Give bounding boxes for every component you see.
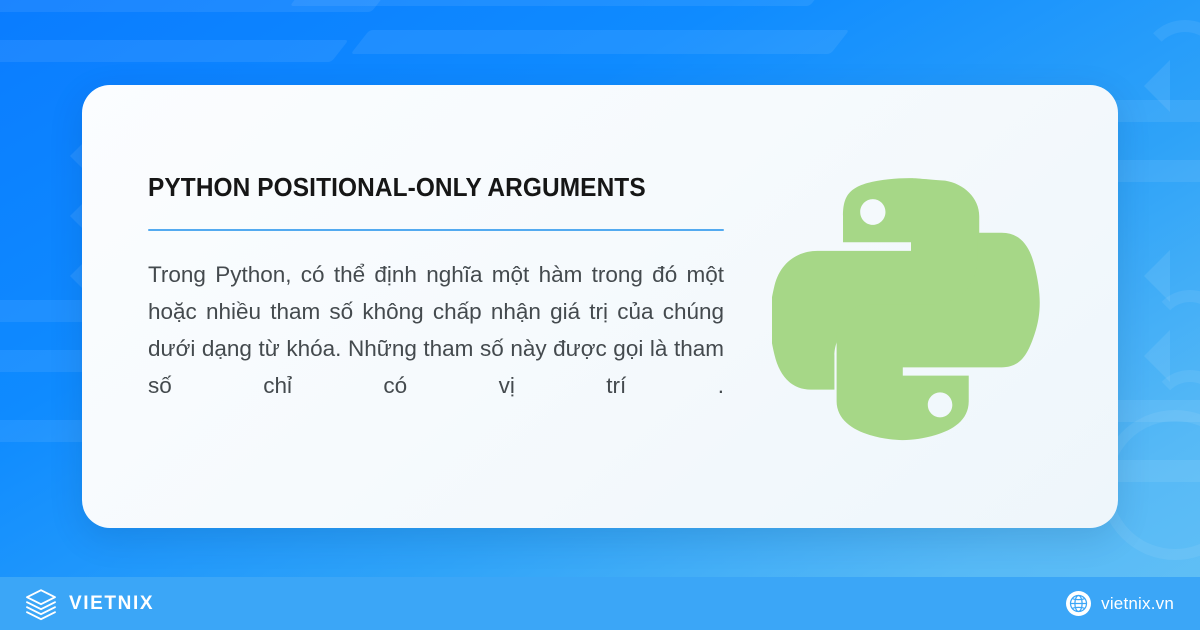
watermark-stripe [0,0,389,12]
watermark-stripe [0,40,349,62]
body-paragraph: Trong Python, có thể định nghĩa một hàm … [148,256,724,441]
watermark-chevron [1144,330,1170,382]
website-url-label: vietnix.vn [1101,594,1174,614]
brand-logo[interactable]: VIETNIX [24,587,154,621]
content-card: PYTHON POSITIONAL-ONLY ARGUMENTS Trong P… [82,85,1118,528]
watermark-hook [1150,290,1200,370]
website-badge[interactable]: vietnix.vn [1066,591,1174,616]
python-logo-container [722,168,1118,446]
watermark-hook [1140,20,1200,110]
card-text-column: PYTHON POSITIONAL-ONLY ARGUMENTS Trong P… [82,172,722,441]
footer-bar: VIETNIX vietnix.vn [0,577,1200,630]
python-logo-icon [772,168,1050,446]
watermark-stripe [351,30,850,54]
watermark-chevron [1144,250,1170,302]
globe-icon [1066,591,1091,616]
watermark-stripe [290,0,830,6]
brand-name-label: VIETNIX [69,593,154,615]
stacked-layers-icon [24,587,58,621]
page-title: PYTHON POSITIONAL-ONLY ARGUMENTS [148,172,688,203]
watermark-chevron [1144,60,1170,112]
watermark-hook [1150,370,1200,450]
title-divider [148,229,724,231]
